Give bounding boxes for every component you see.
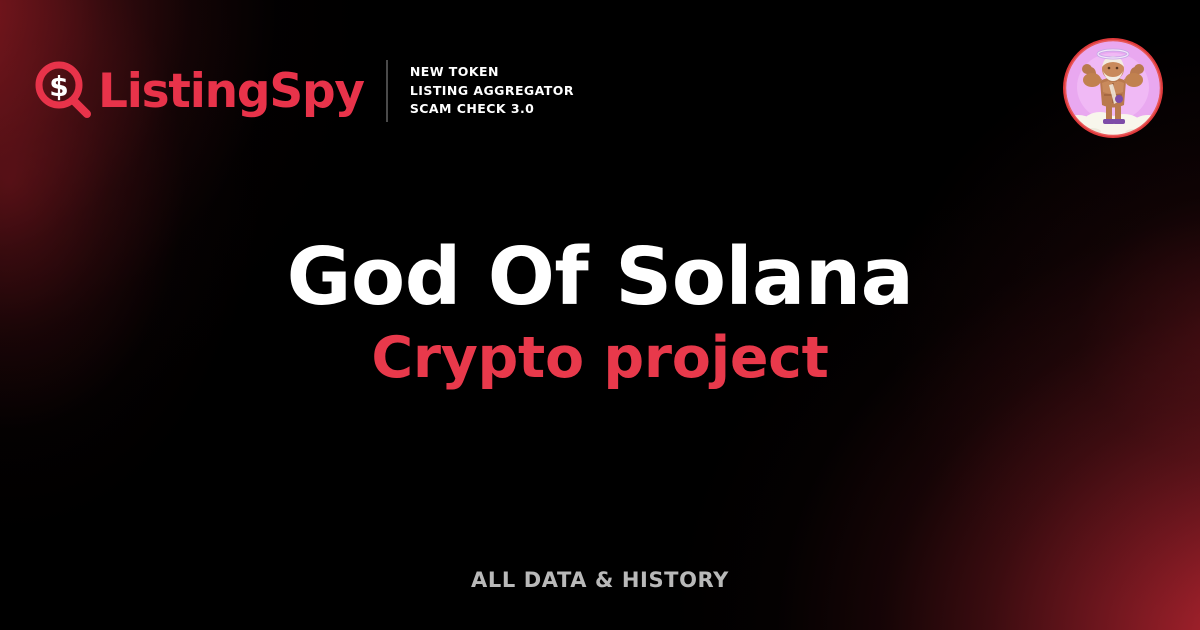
muscular-god-avatar-icon (1062, 37, 1164, 139)
footer-note: ALL DATA & HISTORY (0, 568, 1200, 592)
page-title: God Of Solana (0, 236, 1200, 318)
tagline-line-2: LISTING AGGREGATOR (410, 82, 574, 100)
magnifier-dollar-icon: $ (34, 61, 94, 121)
tagline-line-3: SCAM CHECK 3.0 (410, 100, 574, 118)
page-subtitle: Crypto project (0, 328, 1200, 390)
brand-tagline: NEW TOKEN LISTING AGGREGATOR SCAM CHECK … (410, 63, 574, 118)
brand-divider (386, 60, 388, 122)
svg-text:$: $ (49, 70, 68, 103)
header: $ ListingSpy NEW TOKEN LISTING AGGREGATO… (0, 0, 1200, 160)
token-avatar[interactable] (1062, 37, 1164, 139)
brand-lockup[interactable]: $ ListingSpy NEW TOKEN LISTING AGGREGATO… (34, 58, 574, 124)
brand-name-part1: Listing (98, 64, 269, 119)
brand-name-part2: Spy (269, 64, 364, 119)
share-card-canvas: $ ListingSpy NEW TOKEN LISTING AGGREGATO… (0, 0, 1200, 630)
project-heading-block: God Of Solana Crypto project (0, 236, 1200, 390)
tagline-line-1: NEW TOKEN (410, 63, 574, 81)
brand-wordmark: ListingSpy (98, 68, 364, 115)
